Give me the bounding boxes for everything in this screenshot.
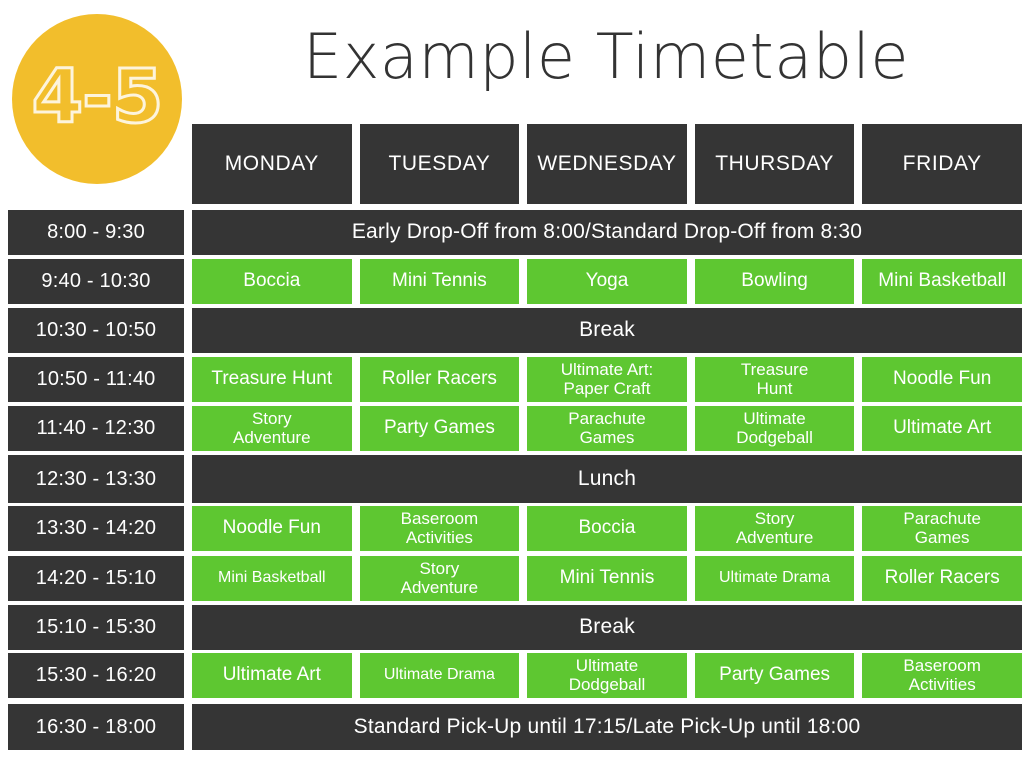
activity-cell[interactable]: Mini Tennis [527,556,687,601]
activity-cell[interactable]: Yoga [527,259,687,304]
timetable-row: 12:30 - 13:30 Lunch [0,455,1026,503]
time-slot-label: 8:00 - 9:30 [8,210,184,255]
day-header-friday: FRIDAY [862,124,1022,204]
activity-cell[interactable]: Mini Basketball [192,556,352,601]
day-header-tuesday: TUESDAY [360,124,520,204]
activity-cell[interactable]: Party Games [360,406,520,451]
timetable-row: 11:40 - 12:30 Story Adventure Party Game… [0,406,1026,451]
age-group-badge: 4-5 [12,14,182,184]
day-header-monday: MONDAY [192,124,352,204]
activity-cell[interactable]: Bowling [695,259,855,304]
activity-cell[interactable]: Treasure Hunt [192,357,352,402]
activity-cell[interactable]: Noodle Fun [192,506,352,551]
banner-cell: Break [192,308,1022,353]
activity-cell[interactable]: Ultimate Art [192,653,352,698]
banner-cell: Break [192,605,1022,650]
activity-cell[interactable]: Ultimate Dodgeball [695,406,855,451]
timetable-row: 10:30 - 10:50 Break [0,308,1026,353]
activity-cell[interactable]: Story Adventure [695,506,855,551]
timetable-row: 15:30 - 16:20 Ultimate Art Ultimate Dram… [0,653,1026,698]
activity-cell[interactable]: Story Adventure [360,556,520,601]
time-slot-label: 16:30 - 18:00 [8,704,184,750]
timetable-row: 15:10 - 15:30 Break [0,605,1026,650]
row-cells: Break [192,308,1026,353]
activity-cell[interactable]: Mini Tennis [360,259,520,304]
activity-cell[interactable]: Ultimate Art [862,406,1022,451]
activity-cell[interactable]: Story Adventure [192,406,352,451]
activity-cell[interactable]: Ultimate Drama [360,653,520,698]
activity-cell[interactable]: Ultimate Drama [695,556,855,601]
activity-cell[interactable]: Mini Basketball [862,259,1022,304]
time-slot-label: 12:30 - 13:30 [8,455,184,503]
banner-cell: Standard Pick-Up until 17:15/Late Pick-U… [192,704,1022,750]
activity-cell[interactable]: Party Games [695,653,855,698]
row-cells: Treasure Hunt Roller Racers Ultimate Art… [192,357,1026,402]
row-cells: Mini Basketball Story Adventure Mini Ten… [192,556,1026,601]
row-cells: Story Adventure Party Games Parachute Ga… [192,406,1026,451]
age-group-label: 4-5 [32,60,163,138]
row-cells: Break [192,605,1026,650]
activity-cell[interactable]: Treasure Hunt [695,357,855,402]
activity-cell[interactable]: Ultimate Art: Paper Craft [527,357,687,402]
activity-cell[interactable]: Roller Racers [360,357,520,402]
day-header-cells: MONDAY TUESDAY WEDNESDAY THURSDAY FRIDAY [192,124,1026,204]
timetable-page: 4-5 Example Timetable MONDAY TUESDAY WED… [0,0,1026,772]
activity-cell[interactable]: Baseroom Activities [360,506,520,551]
row-cells: Noodle Fun Baseroom Activities Boccia St… [192,506,1026,551]
activity-cell[interactable]: Boccia [192,259,352,304]
time-slot-label: 15:10 - 15:30 [8,605,184,650]
activity-cell[interactable]: Baseroom Activities [862,653,1022,698]
banner-cell: Lunch [192,455,1022,503]
timetable-row: 16:30 - 18:00 Standard Pick-Up until 17:… [0,704,1026,750]
row-cells: Ultimate Art Ultimate Drama Ultimate Dod… [192,653,1026,698]
activity-cell[interactable]: Noodle Fun [862,357,1022,402]
time-slot-label: 14:20 - 15:10 [8,556,184,601]
row-cells: Standard Pick-Up until 17:15/Late Pick-U… [192,704,1026,750]
row-cells: Early Drop-Off from 8:00/Standard Drop-O… [192,210,1026,255]
activity-cell[interactable]: Parachute Games [862,506,1022,551]
time-slot-label: 10:50 - 11:40 [8,357,184,402]
time-slot-label: 9:40 - 10:30 [8,259,184,304]
time-slot-label: 11:40 - 12:30 [8,406,184,451]
activity-cell[interactable]: Roller Racers [862,556,1022,601]
activity-cell[interactable]: Parachute Games [527,406,687,451]
banner-cell: Early Drop-Off from 8:00/Standard Drop-O… [192,210,1022,255]
time-slot-label: 13:30 - 14:20 [8,506,184,551]
timetable-row: 13:30 - 14:20 Noodle Fun Baseroom Activi… [0,506,1026,551]
time-slot-label: 15:30 - 16:20 [8,653,184,698]
timetable-row: 9:40 - 10:30 Boccia Mini Tennis Yoga Bow… [0,259,1026,304]
timetable-row: 14:20 - 15:10 Mini Basketball Story Adve… [0,556,1026,601]
row-cells: Boccia Mini Tennis Yoga Bowling Mini Bas… [192,259,1026,304]
time-slot-label: 10:30 - 10:50 [8,308,184,353]
day-header-thursday: THURSDAY [695,124,855,204]
timetable-row: 10:50 - 11:40 Treasure Hunt Roller Racer… [0,357,1026,402]
activity-cell[interactable]: Boccia [527,506,687,551]
timetable-row: 8:00 - 9:30 Early Drop-Off from 8:00/Sta… [0,210,1026,255]
day-header-wednesday: WEDNESDAY [527,124,687,204]
row-cells: Lunch [192,455,1026,503]
activity-cell[interactable]: Ultimate Dodgeball [527,653,687,698]
